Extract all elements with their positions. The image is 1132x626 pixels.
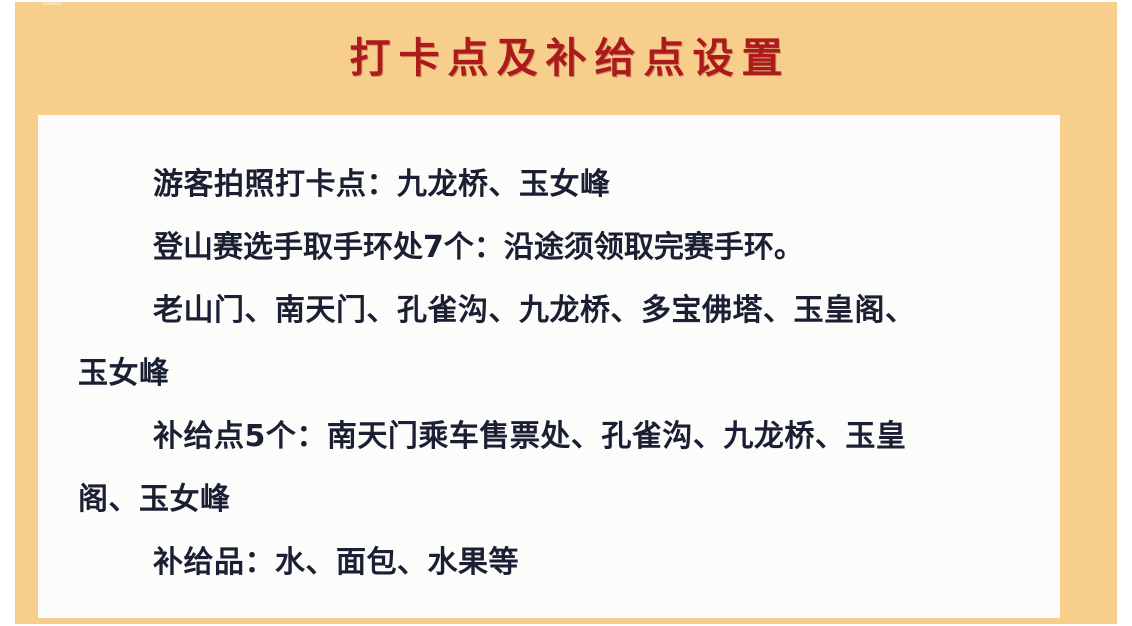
content-body: 游客拍照打卡点：九龙桥、玉女峰 登山赛选手取手环处7个：沿途须领取完赛手环。 老… <box>38 115 1060 618</box>
body-line-wristband-pickup: 登山赛选手取手环处7个：沿途须领取完赛手环。 <box>78 216 1030 279</box>
slide-root: 打卡点及补给点设置 游客拍照打卡点：九龙桥、玉女峰 登山赛选手取手环处7个：沿途… <box>0 0 1132 626</box>
body-line-photo-spots: 游客拍照打卡点：九龙桥、玉女峰 <box>78 153 1030 216</box>
body-line-supply-points-1: 补给点5个：南天门乘车售票处、孔雀沟、九龙桥、玉皇 <box>78 405 1030 468</box>
title-bar: 打卡点及补给点设置 <box>15 2 1117 115</box>
body-line-wristband-list-2: 玉女峰 <box>78 342 1030 405</box>
body-line-supply-points-2: 阁、玉女峰 <box>78 468 1030 531</box>
body-line-wristband-list-1: 老山门、南天门、孔雀沟、九龙桥、多宝佛塔、玉皇阁、 <box>78 279 1030 342</box>
content-panel: 游客拍照打卡点：九龙桥、玉女峰 登山赛选手取手环处7个：沿途须领取完赛手环。 老… <box>38 115 1060 618</box>
page-title: 打卡点及补给点设置 <box>342 38 791 79</box>
body-line-supply-items: 补给品：水、面包、水果等 <box>78 531 1030 594</box>
